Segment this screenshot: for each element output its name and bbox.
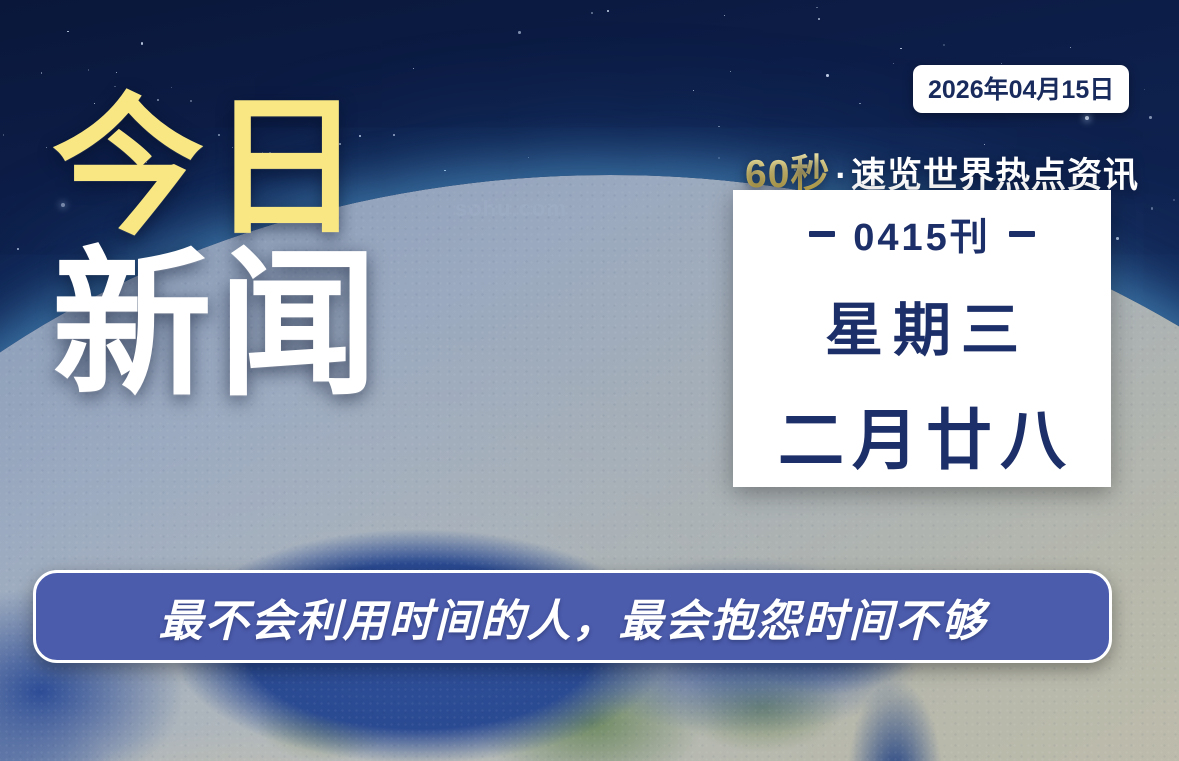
watermark: sohu.com (455, 196, 567, 222)
title-line-today: 今日 (52, 96, 384, 242)
page-title: 今日 新闻 (52, 96, 384, 402)
date-card: 0415刊 星期三 二月廿八 (733, 190, 1111, 487)
date-badge: 2026年04月15日 (913, 65, 1129, 113)
issue-row: 0415刊 (809, 206, 1035, 261)
dash-right-icon (1009, 231, 1035, 237)
quote-banner: 最不会利用时间的人，最会抱怨时间不够 (33, 570, 1112, 663)
lunar-date-label: 二月廿八 (778, 387, 1074, 483)
news-poster: sohu.com 今日 新闻 2026年04月15日 60秒·速览世界热点资讯 … (0, 0, 1179, 761)
quote-text: 最不会利用时间的人，最会抱怨时间不够 (159, 585, 987, 649)
title-line-news: 新闻 (52, 248, 384, 402)
issue-number: 0415刊 (853, 206, 991, 261)
weekday-label: 星期三 (825, 283, 1029, 367)
dash-left-icon (809, 231, 835, 237)
